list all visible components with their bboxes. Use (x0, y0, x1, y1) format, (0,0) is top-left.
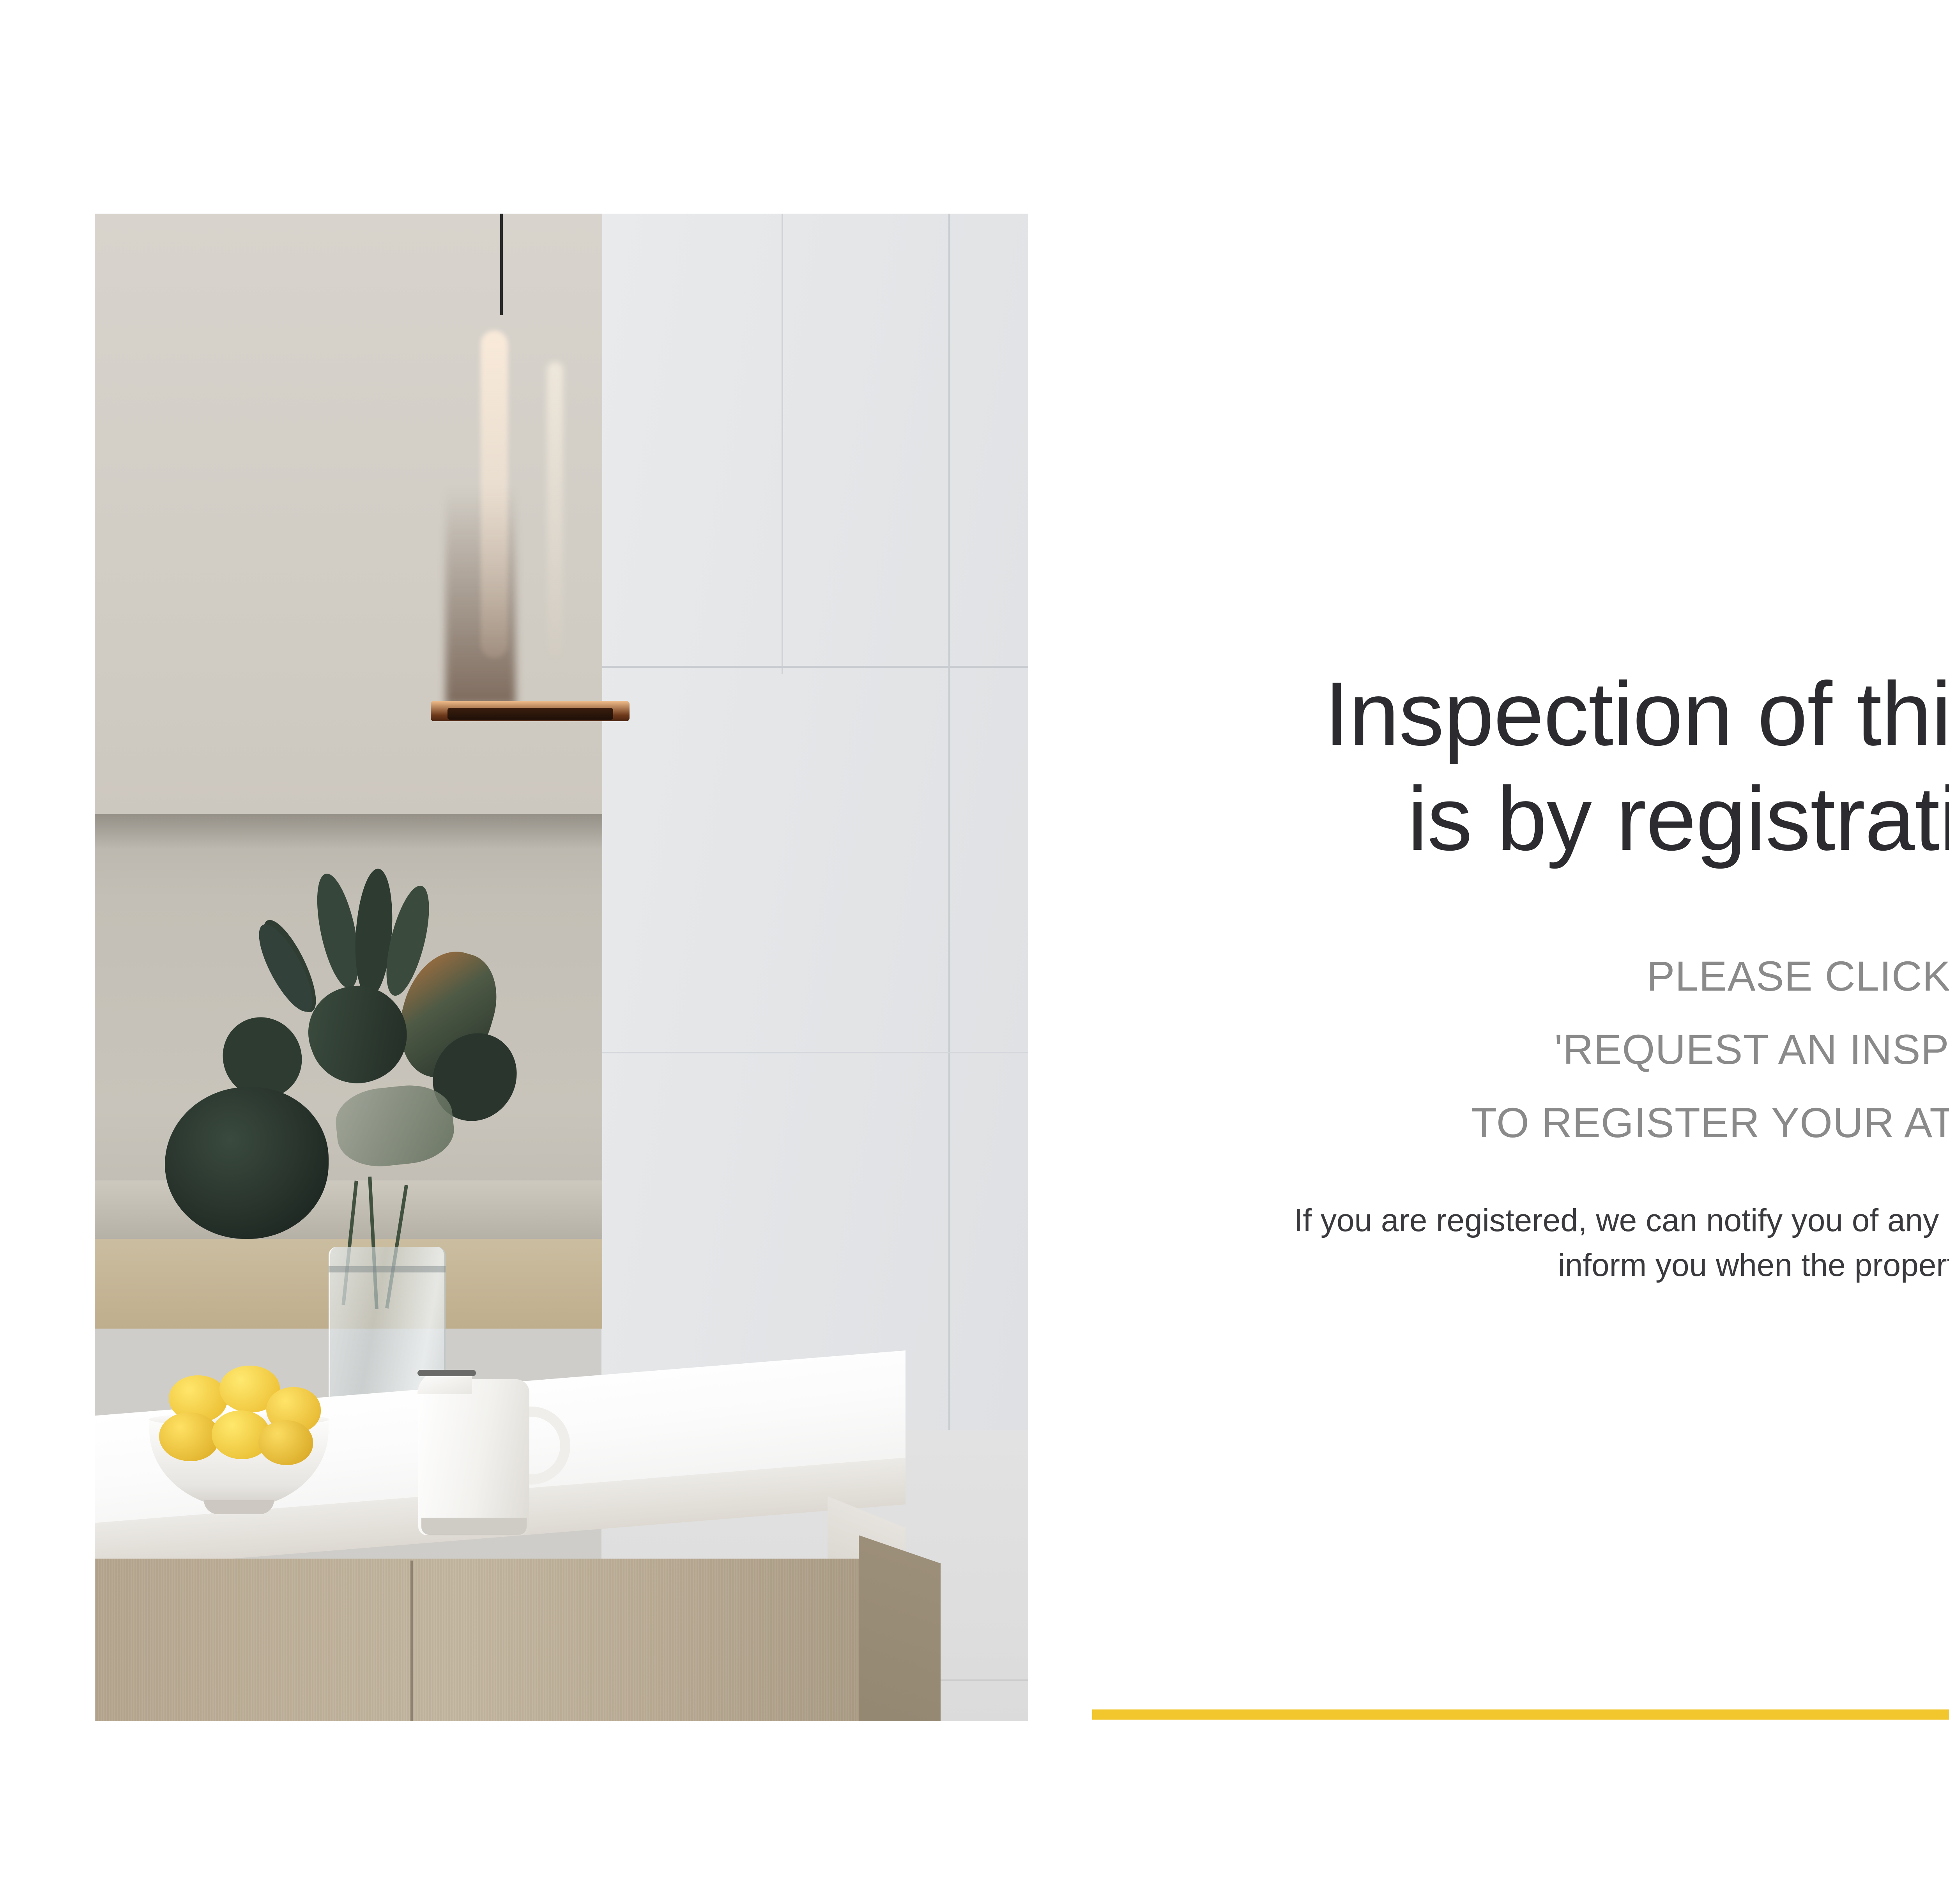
cabinet-seam-vertical-2 (782, 214, 783, 674)
instructions-block: PLEASE CLICK ON 'REQUEST AN INSPECTION' … (1092, 955, 1949, 1144)
cabinetry-wall-right (601, 214, 1028, 1430)
headline-line-1: Inspection of this property (1092, 662, 1949, 766)
island-timber-grain (95, 1559, 859, 1721)
body-line-1: If you are registered, we can notify you… (1092, 1198, 1949, 1243)
yellow-divider-rule (1092, 1709, 1949, 1720)
instruction-line-1: PLEASE CLICK ON (1092, 955, 1949, 997)
cabinet-seam-horizontal (601, 666, 1028, 668)
hydrangea-bloom (165, 1087, 329, 1239)
cabinet-seam-vertical (948, 214, 950, 1430)
jug-base (421, 1518, 527, 1535)
page-title: Inspection of this property is by regist… (1092, 662, 1949, 871)
lemon (159, 1412, 219, 1461)
niche-shadow (95, 814, 602, 849)
instruction-line-3: TO REGISTER YOUR ATTENDANCE. (1092, 1102, 1949, 1144)
lamp-highlight (481, 331, 508, 658)
island-door-seam (410, 1561, 413, 1721)
cabinet-seam-horizontal-2 (601, 1052, 1028, 1053)
kitchen-interior-photo (95, 214, 1028, 1721)
headline-line-2: is by registration only. (1092, 766, 1949, 871)
berry-sprig (332, 1081, 457, 1171)
vase-rim (329, 1266, 446, 1272)
registration-note: If you are registered, we can notify you… (1092, 1198, 1949, 1288)
fruit-bowl-foot (204, 1500, 274, 1514)
ceramic-jug (418, 1379, 529, 1535)
instruction-line-2: 'REQUEST AN INSPECTION' (1092, 1028, 1949, 1071)
lamp-interior (447, 708, 613, 720)
lemon (258, 1420, 313, 1465)
lamp-highlight-secondary (547, 362, 563, 658)
island-side-panel (859, 1535, 941, 1721)
body-line-2: inform you when the property is leased. (1092, 1243, 1949, 1288)
pendant-cord (500, 214, 503, 315)
message-panel: Inspection of this property is by regist… (1092, 215, 1949, 1288)
jug-lip (417, 1370, 476, 1376)
